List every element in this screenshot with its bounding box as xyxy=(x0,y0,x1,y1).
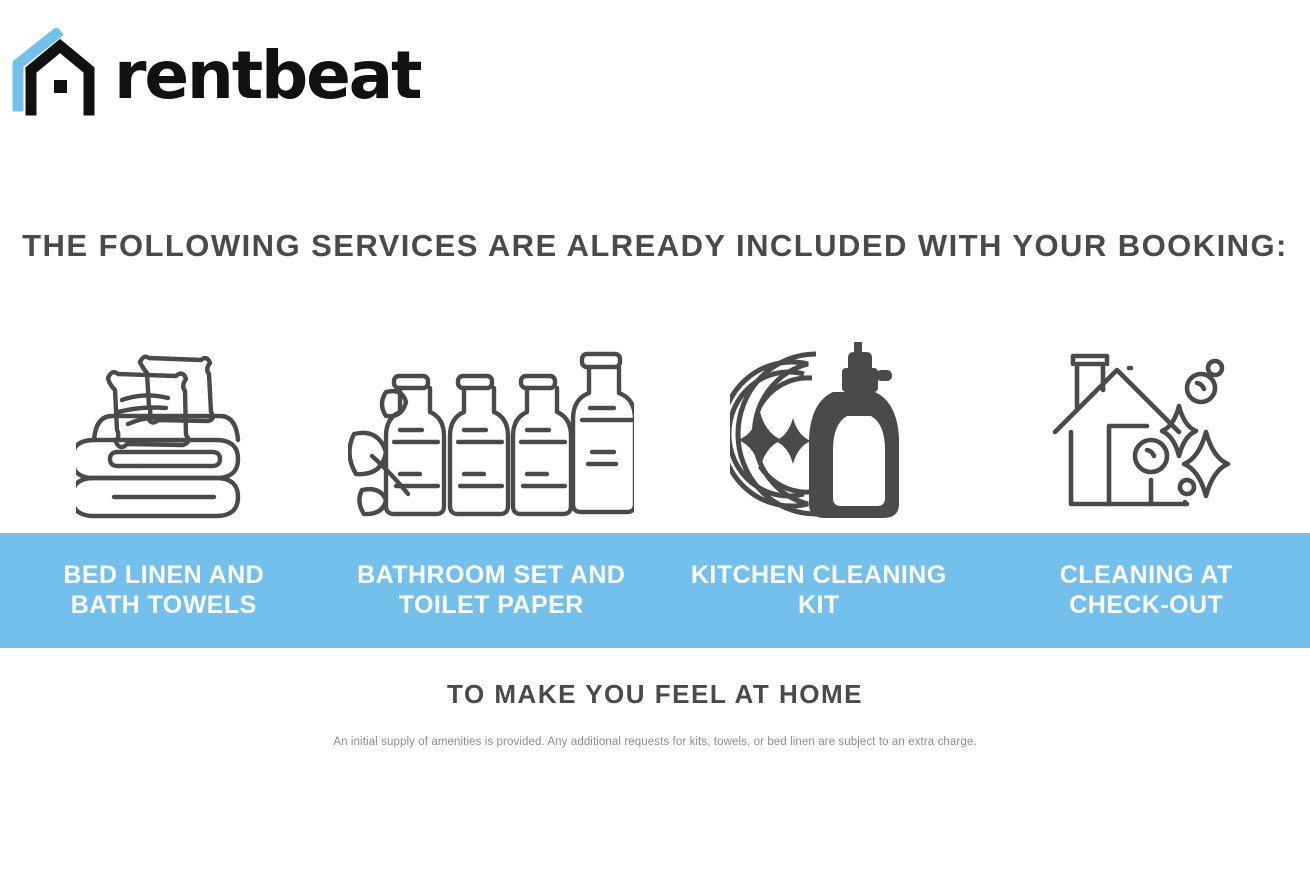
service-label: KITCHEN CLEANING KIT xyxy=(691,561,947,620)
dish-soap-sparkle-icon xyxy=(730,340,908,522)
service-label-cell-checkout-cleaning: CLEANING AT CHECK-OUT xyxy=(983,533,1310,648)
service-label-cell-bed-linen: BED LINEN AND BATH TOWELS xyxy=(0,533,328,648)
page-title: THE FOLLOWING SERVICES ARE ALREADY INCLU… xyxy=(0,228,1310,264)
service-icon-cell-bathroom-set xyxy=(328,326,656,522)
house-logo-icon xyxy=(8,28,100,120)
service-label: CLEANING AT CHECK-OUT xyxy=(1060,561,1233,620)
service-label-band: BED LINEN AND BATH TOWELS BATHROOM SET A… xyxy=(0,533,1310,648)
service-icon-cell-kitchen-kit xyxy=(655,326,983,522)
service-icon-cell-checkout-cleaning xyxy=(983,326,1310,522)
sparkling-house-icon xyxy=(1051,350,1241,522)
service-label-cell-bathroom-set: BATHROOM SET AND TOILET PAPER xyxy=(328,533,656,648)
service-label: BED LINEN AND BATH TOWELS xyxy=(63,561,264,620)
brand-logo[interactable]: rentbeat xyxy=(8,28,420,120)
footer-fineprint: An initial supply of amenities is provid… xyxy=(0,736,1310,748)
included-services-page: { "brand": { "name": "rentbeat", "mark_i… xyxy=(0,0,1310,875)
service-label: BATHROOM SET AND TOILET PAPER xyxy=(357,561,625,620)
brand-wordmark: rentbeat xyxy=(114,43,420,109)
bed-linen-towels-icon xyxy=(76,336,252,522)
toiletry-bottles-icon xyxy=(348,350,634,522)
service-icon-row xyxy=(0,326,1310,522)
service-icon-cell-bed-linen xyxy=(0,326,328,522)
service-label-cell-kitchen-kit: KITCHEN CLEANING KIT xyxy=(655,533,983,648)
footer-subheading: TO MAKE YOU FEEL AT HOME xyxy=(0,679,1310,710)
